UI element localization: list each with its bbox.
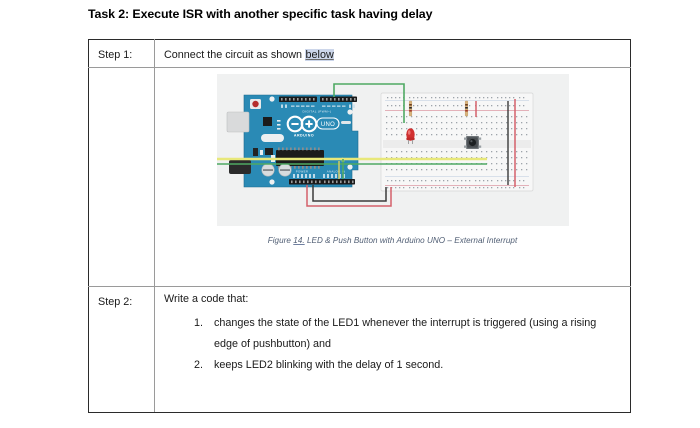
steps-table: Step 1: Connect the circuit as shown bel… (88, 39, 631, 413)
table-row-figure: DIGITAL (PWM~) ARDUINO (89, 68, 631, 287)
list-item: changes the state of the LED1 whenever t… (206, 313, 623, 355)
cell-step1-text: Connect the circuit as shown below (155, 40, 631, 68)
caption-prefix: Figure (268, 236, 294, 245)
page-title: Task 2: Execute ISR with another specifi… (88, 7, 432, 21)
step1-label: Step 1: (98, 49, 132, 61)
circuit-diagram-image: DIGITAL (PWM~) ARDUINO (217, 74, 569, 226)
caption-rest: LED & Push Button with Arduino UNO – Ext… (305, 236, 518, 245)
svg-text:UNO: UNO (320, 122, 334, 128)
cell-step2-text: Write a code that: changes the state of … (155, 287, 631, 413)
step1-instruction: Connect the circuit as shown (164, 49, 305, 61)
resistor-1 (409, 101, 412, 116)
step2-intro: Write a code that: (164, 292, 623, 307)
cell-figure: DIGITAL (PWM~) ARDUINO (155, 68, 631, 287)
figure-caption: Figure 14. LED & Push Button with Arduin… (155, 236, 630, 245)
circuit-svg: DIGITAL (PWM~) ARDUINO (217, 74, 569, 226)
step2-requirements-list: changes the state of the LED1 whenever t… (164, 313, 623, 376)
list-item: keeps LED2 blinking with the delay of 1 … (206, 355, 623, 376)
cell-step2-label: Step 2: (89, 287, 155, 413)
pushbutton (464, 136, 481, 149)
caption-number: 14. (293, 236, 304, 245)
resistor-2 (465, 101, 468, 116)
step2-label: Step 2: (98, 296, 132, 308)
svg-text:DIGITAL (PWM~): DIGITAL (PWM~) (302, 109, 331, 113)
table-row-step2: Step 2: Write a code that: changes the s… (89, 287, 631, 413)
cell-figure-spacer (89, 68, 155, 287)
below-link[interactable]: below (305, 49, 334, 61)
table-row-step1-header: Step 1: Connect the circuit as shown bel… (89, 40, 631, 68)
svg-text:POWER: POWER (295, 170, 307, 174)
cell-step1-label: Step 1: (89, 40, 155, 68)
svg-text:ARDUINO: ARDUINO (293, 134, 313, 138)
